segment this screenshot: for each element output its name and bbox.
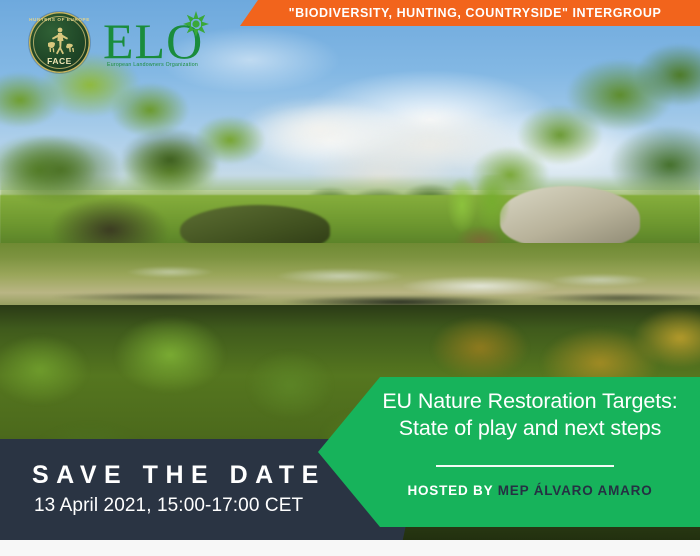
save-the-date-heading: SAVE THE DATE: [32, 461, 326, 490]
face-logo-name: FACE: [29, 56, 90, 66]
host-line: HOSTED BY MEP ÁLVARO AMARO: [370, 483, 690, 498]
hunter-with-dog-emblem-icon: [43, 26, 77, 56]
event-title-panel: EU Nature Restoration Targets: State of …: [318, 377, 700, 527]
bottom-strip: [0, 540, 700, 556]
event-poster: "BIODIVERSITY, HUNTING, COUNTRYSIDE" INT…: [0, 0, 700, 556]
intergroup-banner: "BIODIVERSITY, HUNTING, COUNTRYSIDE" INT…: [240, 0, 700, 26]
host-name: MEP ÁLVARO AMARO: [498, 483, 653, 498]
event-title-line-1: EU Nature Restoration Targets:: [382, 389, 677, 413]
elo-subtitle: European Landowners Organization: [107, 62, 198, 68]
event-title: EU Nature Restoration Targets: State of …: [370, 388, 690, 442]
face-logo[interactable]: HUNTERS OF EUROPE FACE: [29, 12, 90, 73]
event-datetime: 13 April 2021, 15:00-17:00 CET: [34, 495, 303, 517]
hosted-by-label: HOSTED BY: [407, 483, 493, 498]
green-star-icon: [182, 10, 210, 38]
face-logo-arc-text: HUNTERS OF EUROPE: [29, 17, 90, 22]
elo-logo[interactable]: ELO European Landowners Organization: [103, 16, 218, 74]
event-title-line-2: State of play and next steps: [399, 416, 662, 440]
intergroup-banner-text: "BIODIVERSITY, HUNTING, COUNTRYSIDE" INT…: [279, 6, 662, 20]
title-divider: [436, 465, 614, 467]
